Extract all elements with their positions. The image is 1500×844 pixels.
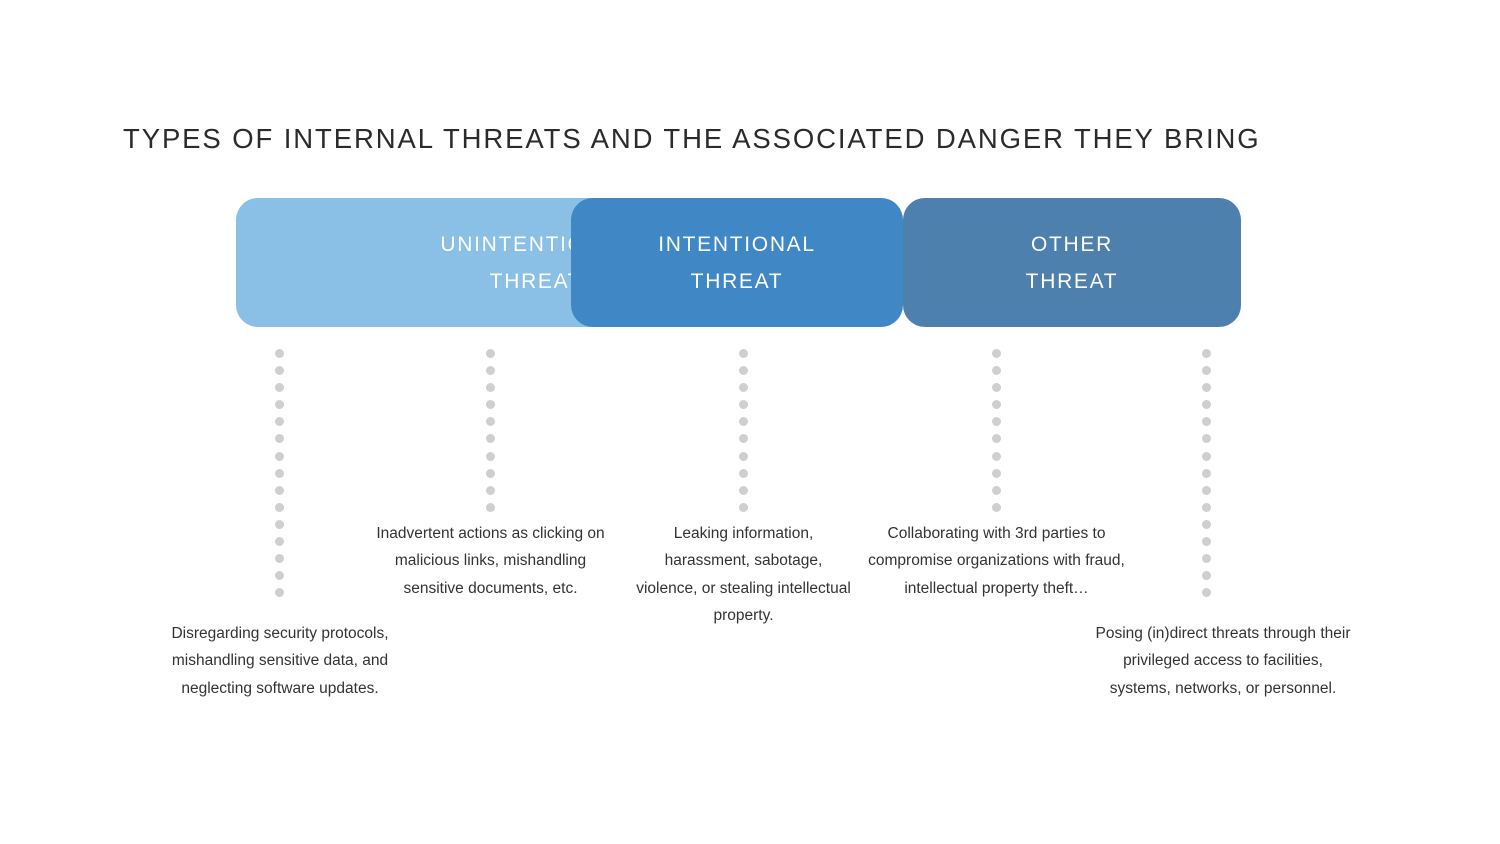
connector-dot: [275, 417, 284, 426]
connector-dot: [275, 383, 284, 392]
connector-dot: [992, 383, 1001, 392]
band-other-threat-line2: THREAT: [1026, 270, 1119, 293]
connector-dot: [1202, 486, 1211, 495]
band-intentional-threat-line2: THREAT: [691, 270, 784, 293]
connector-dot: [275, 537, 284, 546]
connector-dot: [275, 452, 284, 461]
connector-dot: [1202, 520, 1211, 529]
threat-description: Leaking information, harassment, sabotag…: [634, 520, 853, 629]
dotted-connector: [275, 349, 284, 605]
connector-dot: [992, 349, 1001, 358]
connector-dot: [1202, 400, 1211, 409]
connector-dot: [486, 400, 495, 409]
connector-dot: [275, 503, 284, 512]
band-unintentional-threat-line2: THREAT: [490, 270, 583, 293]
connector-dot: [739, 434, 748, 443]
connector-dot: [275, 434, 284, 443]
connector-dot: [486, 417, 495, 426]
threat-description: Collaborating with 3rd parties to compro…: [864, 520, 1129, 602]
band-intentional-threat-label: INTENTIONAL THREAT: [658, 226, 816, 300]
connector-dot: [486, 469, 495, 478]
connector-dot: [486, 383, 495, 392]
connector-dot: [1202, 366, 1211, 375]
band-other-threat-line1: OTHER: [1031, 233, 1113, 256]
connector-dot: [275, 366, 284, 375]
connector-dot: [1202, 349, 1211, 358]
connector-dot: [275, 469, 284, 478]
threat-description: Inadvertent actions as clicking on malic…: [370, 520, 611, 602]
connector-dot: [992, 400, 1001, 409]
connector-dot: [275, 520, 284, 529]
connector-dot: [739, 366, 748, 375]
connector-dot: [1202, 434, 1211, 443]
threat-banner: UNINTENTIONAL THREAT INTENTIONAL THREAT …: [236, 198, 1241, 327]
connector-dot: [275, 400, 284, 409]
connector-dot: [486, 503, 495, 512]
slide-canvas: TYPES OF INTERNAL THREATS AND THE ASSOCI…: [0, 0, 1500, 844]
dotted-connector: [992, 349, 1001, 520]
connector-dot: [1202, 588, 1211, 597]
threat-description: Posing (in)direct threats through their …: [1094, 620, 1352, 702]
connector-dot: [486, 486, 495, 495]
connector-dot: [1202, 503, 1211, 512]
connector-dot: [275, 554, 284, 563]
connector-dot: [275, 349, 284, 358]
connector-dot: [486, 349, 495, 358]
dotted-connector: [739, 349, 748, 520]
connector-dot: [1202, 417, 1211, 426]
connector-dot: [992, 503, 1001, 512]
connector-dot: [739, 486, 748, 495]
connector-dot: [275, 588, 284, 597]
dotted-connector: [1202, 349, 1211, 605]
connector-dot: [992, 486, 1001, 495]
band-intentional-threat[interactable]: INTENTIONAL THREAT: [571, 198, 903, 327]
connector-dot: [275, 486, 284, 495]
connector-dot: [1202, 554, 1211, 563]
page-title: TYPES OF INTERNAL THREATS AND THE ASSOCI…: [123, 122, 1413, 156]
connector-dot: [275, 571, 284, 580]
connector-dot: [1202, 469, 1211, 478]
connector-dot: [486, 434, 495, 443]
connector-dot: [486, 452, 495, 461]
band-intentional-threat-line1: INTENTIONAL: [658, 233, 816, 256]
connector-dot: [739, 452, 748, 461]
dotted-connector: [486, 349, 495, 520]
connector-dot: [739, 349, 748, 358]
connector-dot: [1202, 383, 1211, 392]
connector-dot: [992, 452, 1001, 461]
connector-dot: [739, 503, 748, 512]
connector-dot: [1202, 452, 1211, 461]
connector-dot: [1202, 537, 1211, 546]
band-other-threat[interactable]: OTHER THREAT: [903, 198, 1241, 327]
connector-dot: [486, 366, 495, 375]
connector-dot: [992, 469, 1001, 478]
connector-dot: [1202, 571, 1211, 580]
connector-dot: [739, 417, 748, 426]
connector-dot: [739, 469, 748, 478]
connector-dot: [992, 434, 1001, 443]
connector-dot: [992, 366, 1001, 375]
connector-dot: [739, 400, 748, 409]
connector-dot: [992, 417, 1001, 426]
threat-description: Disregarding security protocols, mishand…: [155, 620, 405, 702]
band-other-threat-label: OTHER THREAT: [1026, 226, 1119, 300]
connector-dot: [739, 383, 748, 392]
